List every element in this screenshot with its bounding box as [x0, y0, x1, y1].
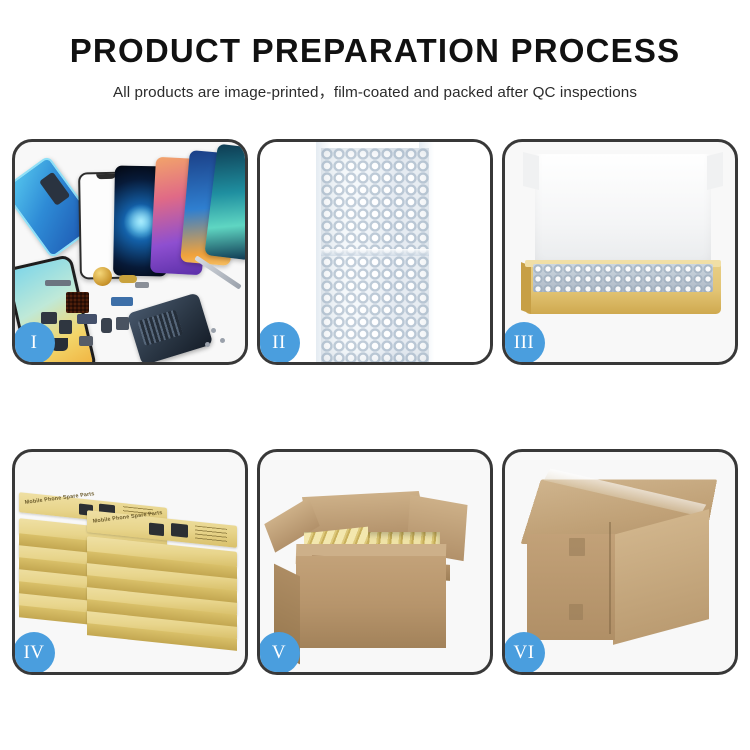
ribbon-part: [111, 297, 133, 306]
carton-front-face: [296, 556, 446, 648]
screw-3: [205, 342, 210, 347]
small-bracket-part: [135, 282, 149, 288]
speaker-part: [116, 317, 129, 330]
phone-chassis-graphic: [127, 292, 214, 362]
step-panel-boxes-stacked: Mobile Phone Spare Parts Mobile Phone Sp…: [12, 449, 248, 675]
flex-cable-part: [45, 280, 71, 286]
module-part-2: [59, 320, 72, 334]
sealed-carton-edge-seam: [609, 522, 611, 634]
module-part-3: [77, 314, 97, 324]
step-badge-4: IV: [13, 632, 55, 674]
process-step-grid: I II III Mob: [12, 139, 738, 675]
screw-2: [220, 338, 225, 343]
carton-tab-bottom: [569, 604, 583, 620]
chip-grid-graphic: [66, 292, 89, 313]
step-panel-carton-sealed: VI: [502, 449, 738, 675]
page-title: PRODUCT PREPARATION PROCESS: [0, 34, 750, 69]
button-part: [79, 336, 93, 346]
step-panel-inner-box: III: [502, 139, 738, 365]
carton-tab-top: [569, 538, 585, 556]
box-lid-graphic: [535, 154, 711, 270]
screw-1: [211, 328, 216, 333]
module-part-1: [41, 312, 57, 324]
page-header: PRODUCT PREPARATION PROCESS All products…: [0, 0, 750, 102]
box-tray-side: [521, 262, 531, 314]
bubble-wrap-graphic: [321, 148, 429, 362]
step-badge-1: I: [13, 322, 55, 364]
page-subtitle: All products are image-printed，film-coat…: [0, 80, 750, 102]
step-badge-3: III: [503, 322, 545, 364]
step-badge-6: VI: [503, 632, 545, 674]
box-stack-graphic: Mobile Phone Spare Parts Mobile Phone Sp…: [19, 470, 245, 666]
box-contents-bubble-wrap: [533, 264, 713, 292]
step-panel-carton-filled: V: [257, 449, 493, 675]
step-badge-5: V: [258, 632, 300, 674]
step-panel-bubble-wrap: II: [257, 139, 493, 365]
coil-part-graphic: [93, 267, 112, 286]
step-badge-2: II: [258, 322, 300, 364]
gold-connector-part: [119, 275, 137, 283]
camera-part: [101, 318, 112, 333]
step-panel-phone-parts: I: [12, 139, 248, 365]
